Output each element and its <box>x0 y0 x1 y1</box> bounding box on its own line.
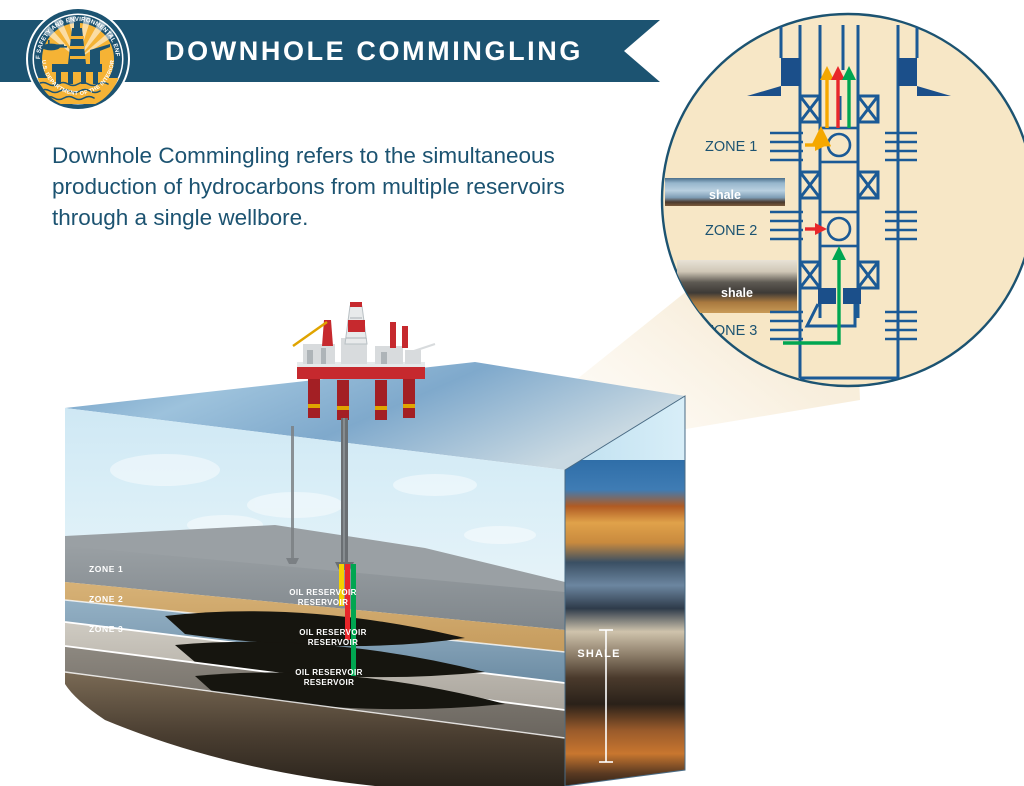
inset-shale-label-upper: shale <box>709 188 741 202</box>
inset-zone-3-label: ZONE 3 <box>705 323 757 339</box>
side-strata-face <box>560 460 690 786</box>
reservoir-label-2: OIL RESERVOIR RESERVOIR <box>299 628 367 647</box>
svg-text:OIL RESERVOIR: OIL RESERVOIR <box>299 628 367 637</box>
block-zone-3-label: ZONE 3 <box>89 624 123 634</box>
block-zone-2-label: ZONE 2 <box>89 594 123 604</box>
tubing-string-zone3 <box>351 564 356 676</box>
svg-text:OIL RESERVOIR: OIL RESERVOIR <box>295 668 363 677</box>
reservoir-label-1: OIL RESERVOIR RESERVOIR <box>289 588 357 607</box>
svg-text:RESERVOIR: RESERVOIR <box>304 678 355 687</box>
wellbore-inset: ZONE 1 ZONE 2 ZONE 3 shale shale <box>655 0 1024 400</box>
inset-shale-label-lower: shale <box>721 286 753 300</box>
block-zone-1-label: ZONE 1 <box>89 564 123 574</box>
reservoir-label-3: OIL RESERVOIR RESERVOIR <box>295 668 363 687</box>
svg-text:RESERVOIR: RESERVOIR <box>308 638 359 647</box>
block-diagram: ZONE 1 ZONE 2 ZONE 3 OIL RESERVOIR RESER… <box>45 300 705 786</box>
block-shale-label: SHALE <box>577 648 620 660</box>
inset-zone-2-label: ZONE 2 <box>705 223 757 239</box>
svg-text:RESERVOIR: RESERVOIR <box>298 598 349 607</box>
agency-seal-logo: BUREAU OF SAFETY AND ENVIRONMENTAL ENFOR… <box>18 6 138 112</box>
production-arrows <box>820 66 856 128</box>
svg-text:OIL RESERVOIR: OIL RESERVOIR <box>289 588 357 597</box>
page-title: DOWNHOLE COMMINGLING <box>165 20 583 82</box>
inset-zone-1-label: ZONE 1 <box>705 139 757 155</box>
